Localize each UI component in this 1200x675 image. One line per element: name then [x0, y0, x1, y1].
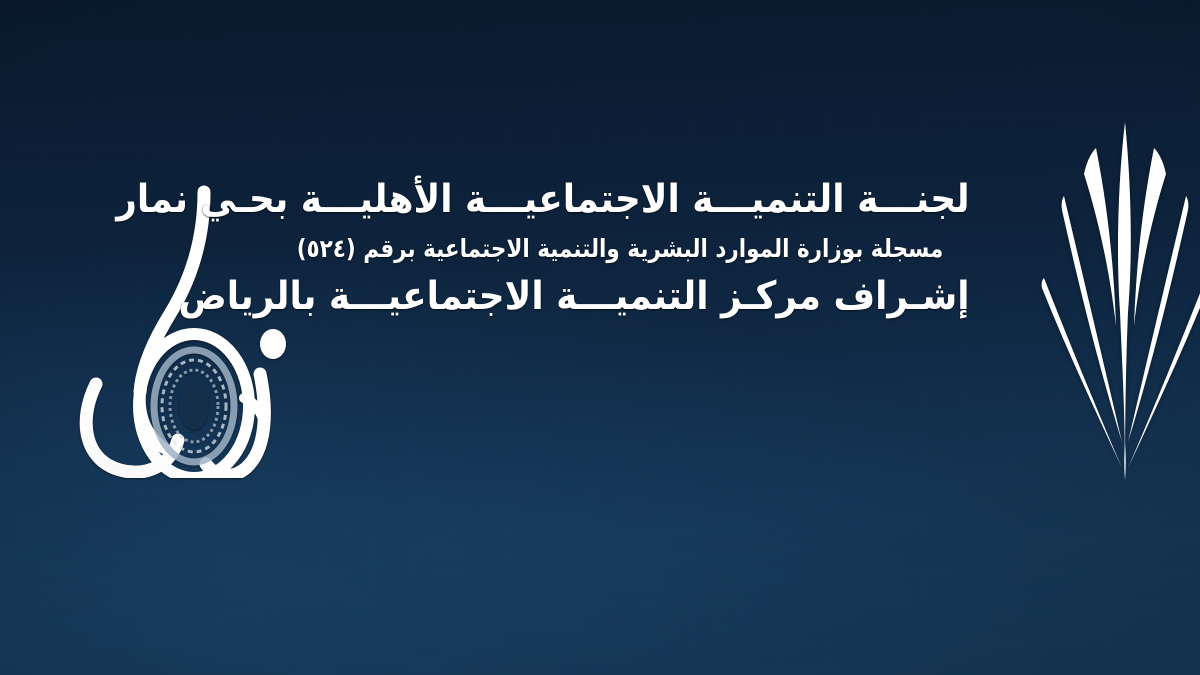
banner-root: لجنـــة التنميـــة الاجتماعيـــة الأهليـ… [0, 0, 1200, 675]
ornamental-medallion [154, 350, 234, 462]
supervision-line: إشـراف مركـز التنميـــة الاجتماعيـــة با… [270, 275, 969, 319]
banner-content: لجنـــة التنميـــة الاجتماعيـــة الأهليـ… [0, 0, 1200, 675]
registration-line: مسجلة بوزارة الموارد البشرية والتنمية ال… [293, 235, 947, 264]
wheat-frond-emblem [1040, 112, 1200, 484]
banner-text-block: لجنـــة التنميـــة الاجتماعيـــة الأهليـ… [240, 178, 1000, 319]
committee-title-line: لجنـــة التنميـــة الاجتماعيـــة الأهليـ… [270, 178, 969, 222]
